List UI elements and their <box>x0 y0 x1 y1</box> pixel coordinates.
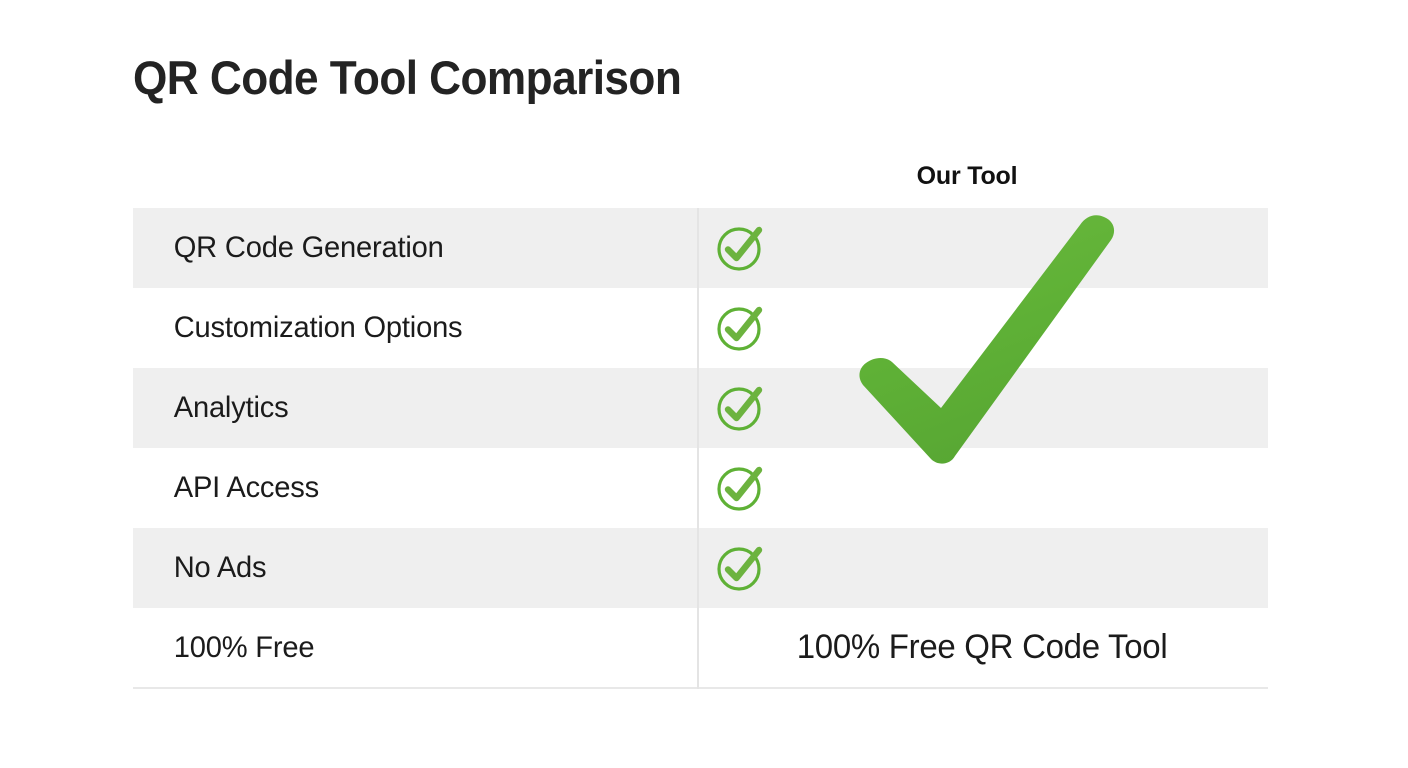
table-row: No Ads <box>133 528 1268 608</box>
feature-label: QR Code Generation <box>133 231 680 265</box>
feature-label: 100% Free <box>133 631 680 665</box>
feature-label: Customization Options <box>133 311 680 345</box>
value-text: 100% Free QR Code Tool <box>797 628 1168 667</box>
value-cell <box>697 448 1268 528</box>
value-cell: 100% Free QR Code Tool <box>697 608 1268 687</box>
check-circle-icon <box>714 462 766 514</box>
table-row: 100% Free 100% Free QR Code Tool <box>133 608 1268 689</box>
table-row: API Access <box>133 448 1268 528</box>
value-cell <box>697 208 1268 288</box>
value-cell <box>697 528 1268 608</box>
value-cell <box>697 288 1268 368</box>
table-row: QR Code Generation <box>133 208 1268 288</box>
feature-label: No Ads <box>133 551 680 585</box>
check-circle-icon <box>714 222 766 274</box>
value-cell <box>697 368 1268 448</box>
check-circle-icon <box>714 302 766 354</box>
feature-label: Analytics <box>133 391 680 425</box>
page-title: QR Code Tool Comparison <box>133 52 681 104</box>
check-circle-icon <box>714 542 766 594</box>
table-row: Customization Options <box>133 288 1268 368</box>
feature-label: API Access <box>133 471 680 505</box>
column-header-our-tool: Our Tool <box>697 162 1237 191</box>
comparison-page: QR Code Tool Comparison Our Tool QR Code… <box>0 0 1408 768</box>
table-row: Analytics <box>133 368 1268 448</box>
check-circle-icon <box>714 382 766 434</box>
table-body: QR Code Generation Customization Options <box>133 208 1268 689</box>
comparison-table: Our Tool QR Code Generation Customizatio… <box>133 152 1268 689</box>
table-header-row: Our Tool <box>133 152 1268 208</box>
